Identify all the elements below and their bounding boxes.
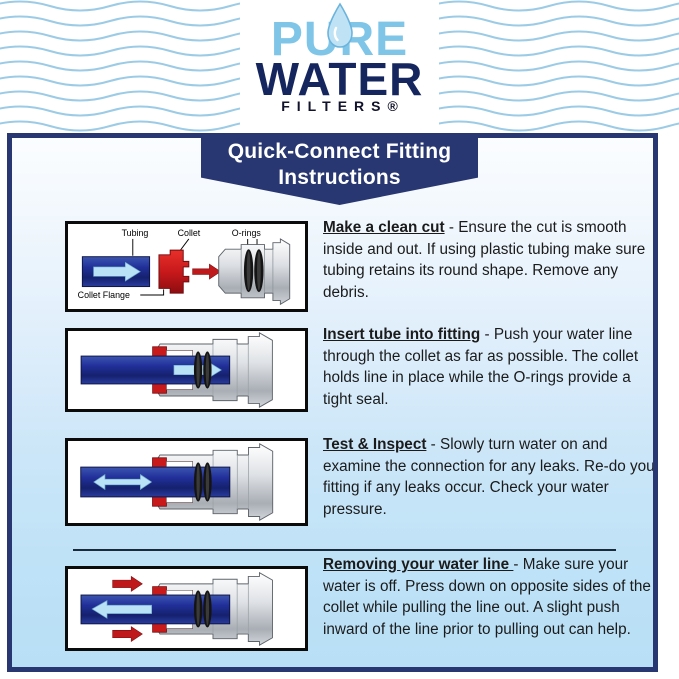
red-arrow-right-bottom xyxy=(113,627,143,642)
step-text-4: Removing your water line - Make sure you… xyxy=(323,554,658,640)
step-separator-3: - xyxy=(426,436,440,453)
step-heading-4: Removing your water line xyxy=(323,556,513,573)
push-pull-test-diagram xyxy=(68,441,305,523)
tube-inserted-cutaway-diagram xyxy=(68,331,305,409)
label-orings: O-rings xyxy=(232,228,262,238)
red-arrow-right-top xyxy=(113,576,143,591)
step-row-3: Test & Inspect - Slowly turn water on an… xyxy=(12,438,658,539)
diagram-box-4 xyxy=(65,566,308,651)
removing-line-diagram xyxy=(68,569,305,648)
water-drop-icon xyxy=(325,2,355,50)
step-row-4: Removing your water line - Make sure you… xyxy=(12,558,658,664)
exploded-fitting-diagram: Tubing Collet O-rings Collet Flange xyxy=(68,224,305,309)
step-row-2: Insert tube into fitting - Push your wat… xyxy=(12,328,658,426)
label-collet: Collet xyxy=(178,228,201,238)
step-separator-2: - xyxy=(480,326,494,343)
instructions-panel: Tubing Collet O-rings Collet Flange xyxy=(7,133,658,672)
step-text-1: Make a clean cut - Ensure the cut is smo… xyxy=(323,217,658,303)
header-banner-area: PURE WATER FILTERS® xyxy=(0,0,679,133)
diagram-box-3 xyxy=(65,438,308,526)
brand-filters-text: FILTERS® xyxy=(0,99,679,113)
brand-water-text: WATER xyxy=(0,56,679,100)
label-collet-flange: Collet Flange xyxy=(78,290,130,300)
brand-filters-word: FILTERS xyxy=(281,98,387,114)
diagram-box-2 xyxy=(65,328,308,412)
step-heading-2: Insert tube into fitting xyxy=(323,326,480,343)
step-text-2: Insert tube into fitting - Push your wat… xyxy=(323,324,658,410)
registered-trademark-icon: ® xyxy=(387,98,404,114)
label-tubing: Tubing xyxy=(122,228,149,238)
step-text-3: Test & Inspect - Slowly turn water on an… xyxy=(323,434,658,520)
step-row-1: Tubing Collet O-rings Collet Flange xyxy=(12,221,658,324)
step-separator-1: - xyxy=(445,219,459,236)
diagram-box-1: Tubing Collet O-rings Collet Flange xyxy=(65,221,308,312)
step-heading-3: Test & Inspect xyxy=(323,436,426,453)
step-separator-4: - xyxy=(513,556,522,573)
section-divider xyxy=(73,549,616,551)
step-heading-1: Make a clean cut xyxy=(323,219,445,236)
banner-line-1: Quick-Connect Fitting xyxy=(201,133,478,164)
